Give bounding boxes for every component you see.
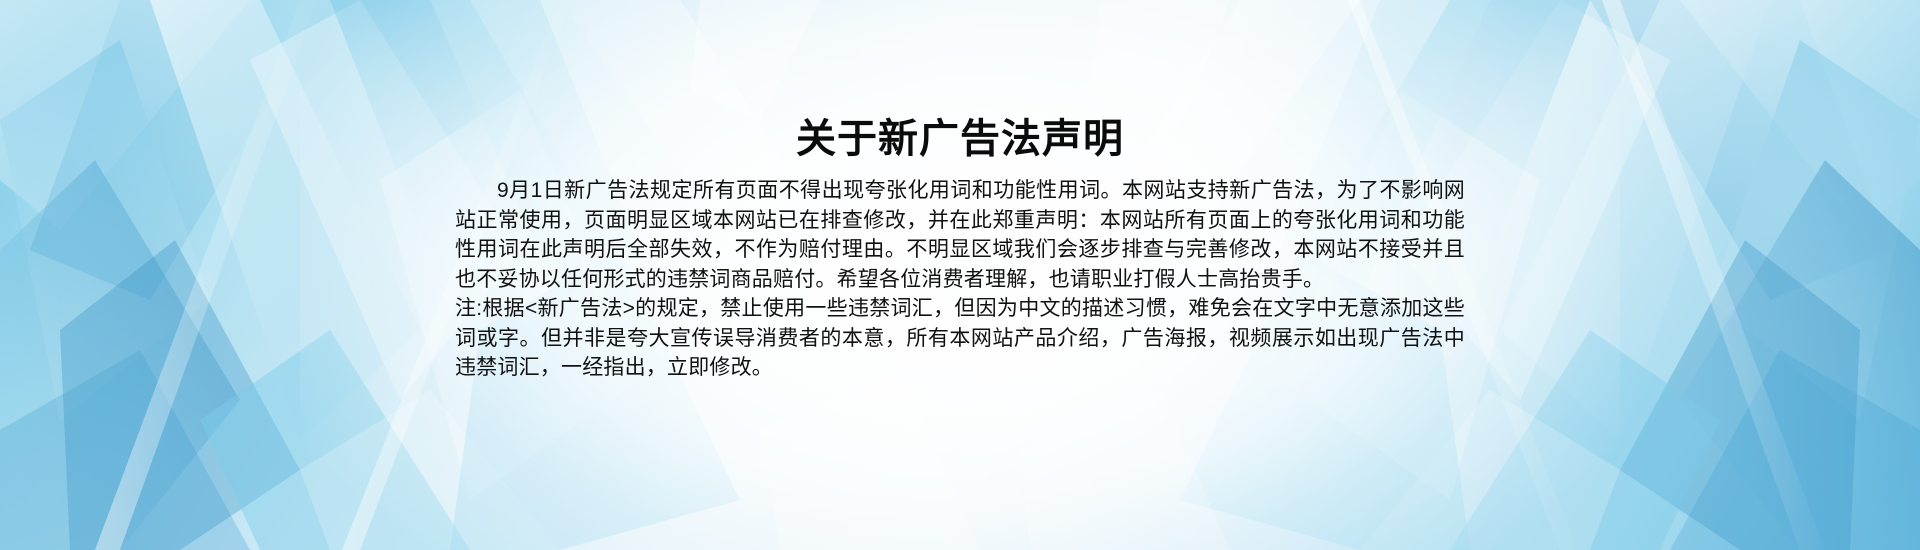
statement-body: 9月1日新广告法规定所有页面不得出现夸张化用词和功能性用词。本网站支持新广告法，…: [455, 176, 1465, 383]
statement-paragraph-main: 9月1日新广告法规定所有页面不得出现夸张化用词和功能性用词。本网站支持新广告法，…: [455, 176, 1465, 294]
statement-paragraph-note: 注:根据<新广告法>的规定，禁止使用一些违禁词汇，但因为中文的描述习惯，难免会在…: [455, 294, 1465, 383]
page-title: 关于新广告法声明: [0, 115, 1920, 163]
banner-content: 关于新广告法声明 9月1日新广告法规定所有页面不得出现夸张化用词和功能性用词。本…: [0, 0, 1920, 550]
advertising-law-statement-banner: 关于新广告法声明 9月1日新广告法规定所有页面不得出现夸张化用词和功能性用词。本…: [0, 0, 1920, 550]
